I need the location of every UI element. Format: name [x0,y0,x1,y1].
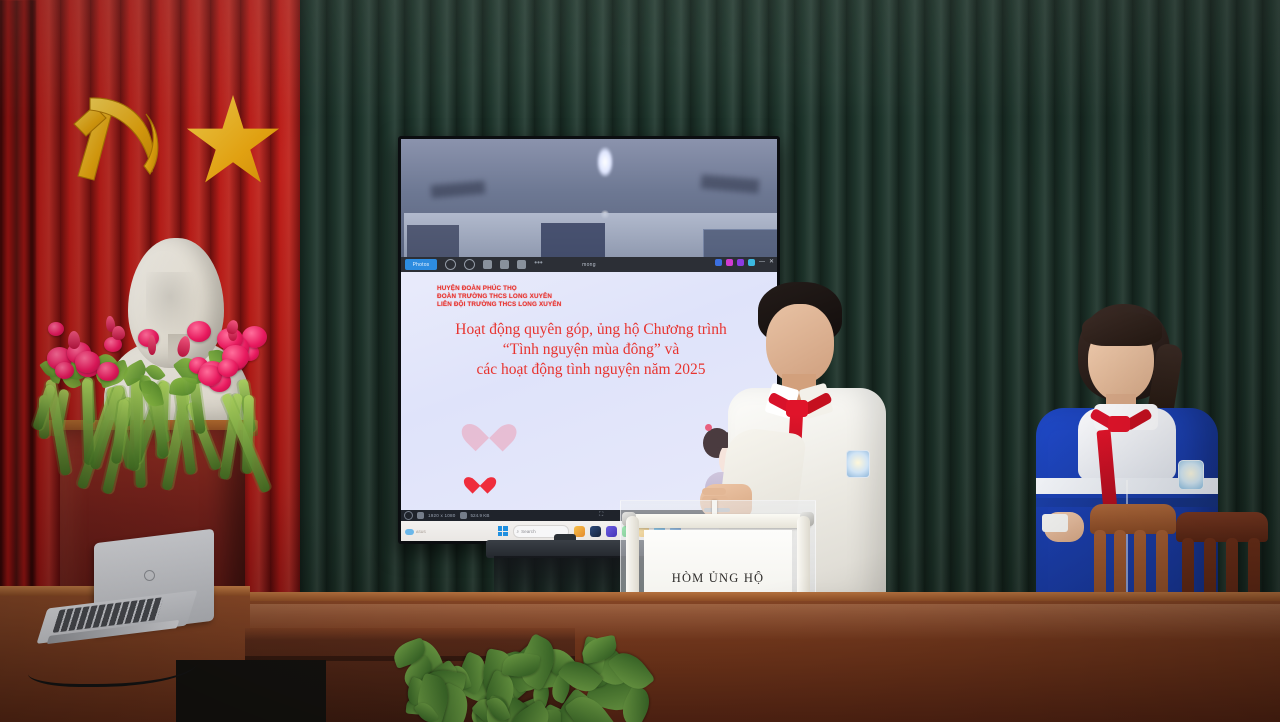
lotus-bloom [48,322,64,336]
lotus-bloom [97,362,119,381]
gold-star-icon [185,95,281,191]
curtain-red-fold [0,0,36,600]
pothos-plant [330,628,660,722]
mail-icon[interactable] [590,526,601,537]
filesize-icon [460,512,467,519]
image-filesize-text: 524.9 KB [471,513,490,518]
conference-table-edge [240,592,1280,601]
red-heart-icon [469,470,490,489]
girl-scarf-knot [1108,416,1130,432]
fern-frond [81,379,93,465]
tv-screen-reflection [401,139,777,257]
fullscreen-icon[interactable]: ⛶ [599,512,603,519]
lotus-bud [148,335,156,355]
dark-equipment-box [176,660,326,722]
donation-box-frame-top [624,514,812,528]
donation-box-label: HÒM ỦNG HỘ [672,571,765,586]
slide-organization-header: HUYỆN ĐOÀN PHÚC THỌ ĐOÀN TRƯỜNG THCS LON… [437,285,561,309]
app-icon-cyan[interactable] [748,259,755,266]
start-button[interactable] [498,526,508,536]
slide-title-line-1: Hoạt động quyên góp, ủng hộ Chương trình [455,321,726,338]
laptop-brand-logo-icon [144,570,155,581]
ceiling-light-reflection [597,147,613,177]
org-line-3: LIÊN ĐỘI TRƯỜNG THCS LONG XUYÊN [437,301,561,309]
app-icon-blue[interactable] [715,259,722,266]
girl-fringe [1082,312,1162,346]
lotus-bud [112,326,126,341]
app-toolbar[interactable]: Photos ••• mong — ✕ [401,257,777,272]
lotus-bud [67,331,80,349]
boy-head [766,304,834,384]
lotus-flower-arrangement [22,318,262,493]
search-placeholder: Search [521,529,536,534]
door-reflection [541,223,605,257]
lotus-bloom [187,321,211,342]
image-dimensions-text: 1920 x 1080 [428,513,456,518]
close-icon[interactable]: ✕ [769,259,774,266]
minimize-icon[interactable]: — [759,259,765,266]
info-circle-icon [404,511,413,520]
hammer-and-sickle-icon [60,80,170,190]
girl-paper [1042,514,1068,532]
dimensions-icon [417,512,424,519]
brand-label: ASUS [416,530,426,534]
window-reflection [703,229,777,257]
window-controls[interactable]: — ✕ [715,259,774,266]
org-line-2: ĐOÀN TRƯỜNG THCS LONG XUYÊN [437,293,561,301]
lotus-bloom [218,359,238,377]
org-line-1: HUYỆN ĐOÀN PHÚC THỌ [437,285,561,293]
laptop[interactable] [48,536,228,656]
screenshot-scene: Photos ••• mong — ✕ HUY [0,0,1280,722]
cloud-icon [405,529,414,535]
search-icon: ⌕ [517,529,520,534]
teams-icon[interactable] [606,526,617,537]
door-reflection-2 [407,225,459,257]
lotus-bloom [75,351,99,372]
boy-school-badge [846,450,870,478]
pink-heart-icon [471,412,507,444]
app-icon-magenta[interactable] [726,259,733,266]
donation-box-slot [704,508,730,512]
app-icon-purple[interactable] [737,259,744,266]
taskbar-brand: ASUS [405,529,426,535]
girl-school-badge [1178,460,1204,490]
